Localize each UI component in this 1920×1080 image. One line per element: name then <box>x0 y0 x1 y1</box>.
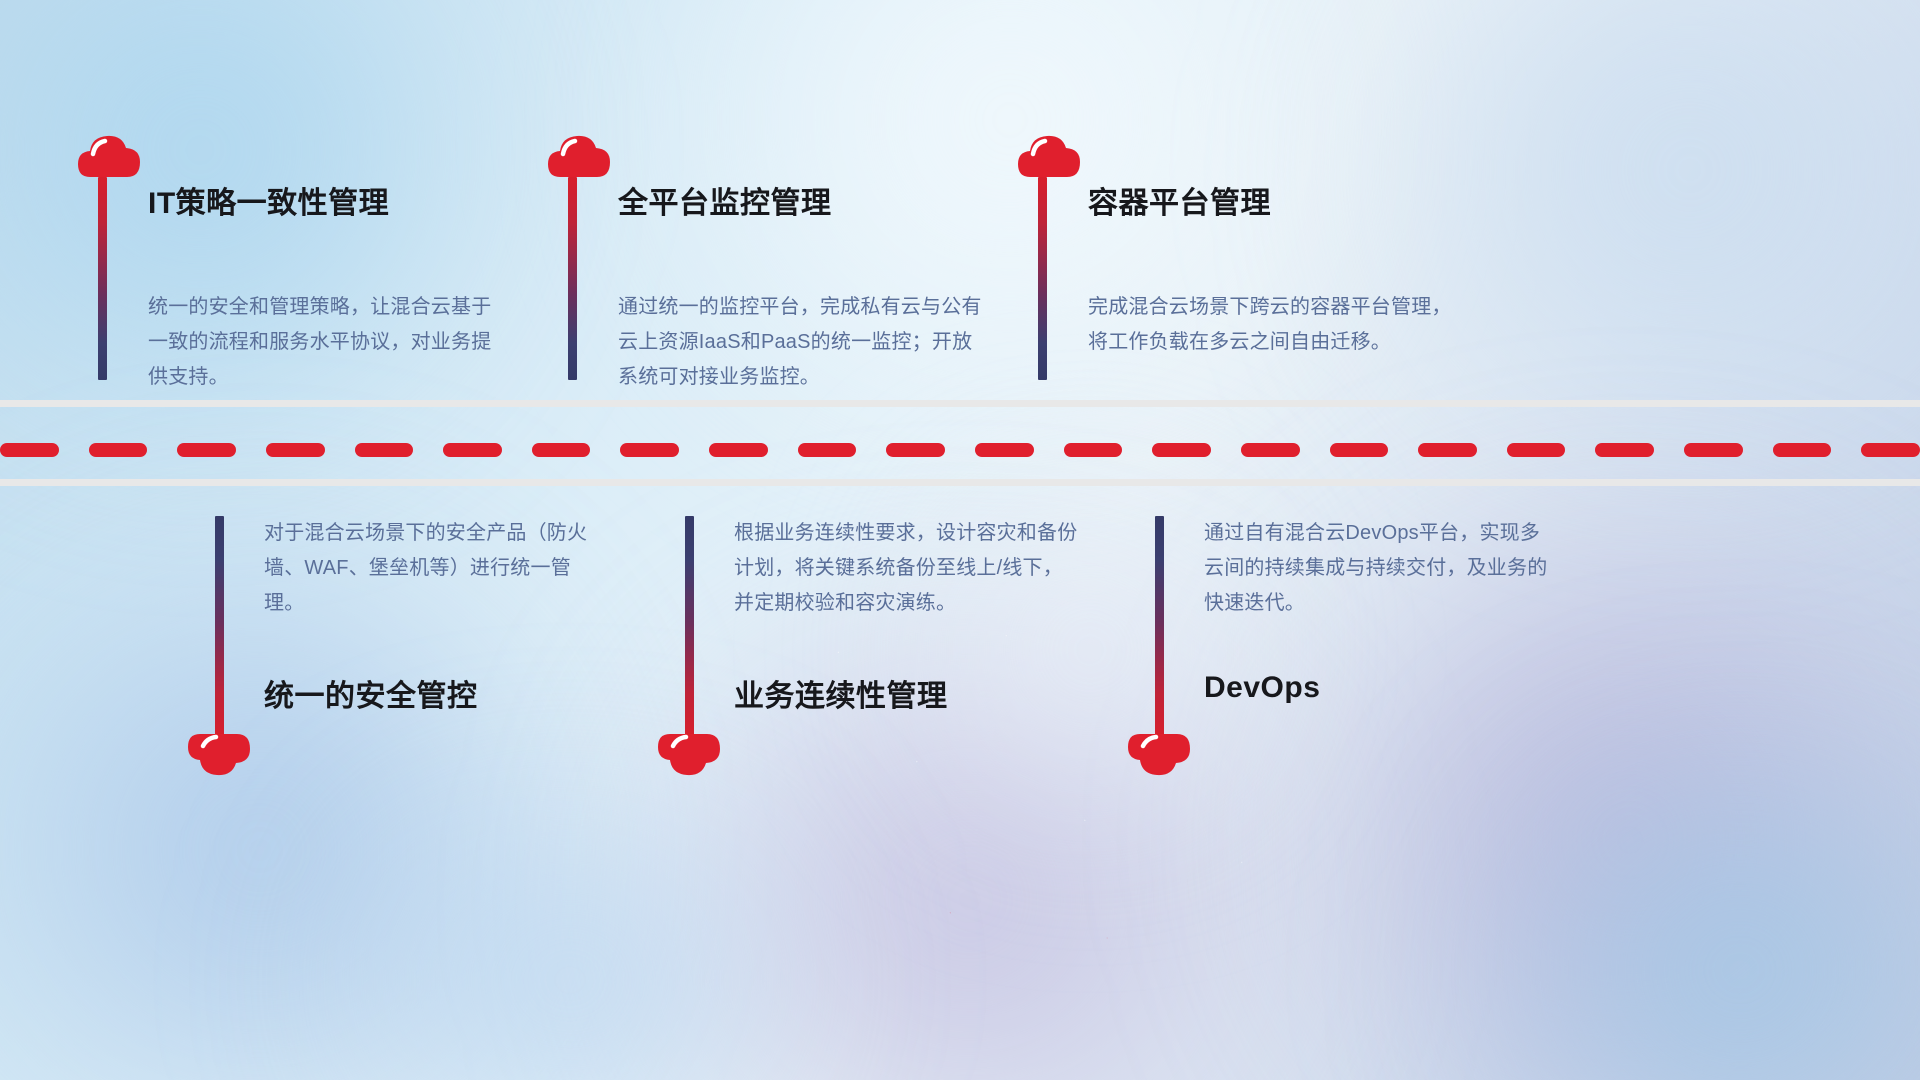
road-dash-segment <box>355 443 414 457</box>
road-dash-segment <box>975 443 1034 457</box>
cloud-icon <box>1018 133 1080 177</box>
card-heading: 全平台监控管理 <box>618 178 832 222</box>
infographic-canvas: IT策略一致性管理 统一的安全和管理策略，让混合云基于一致的流程和服务水平协议，… <box>0 0 1920 1080</box>
road-dash-segment <box>532 443 591 457</box>
road-rail-top <box>0 400 1920 407</box>
card-heading: IT策略一致性管理 <box>148 178 389 222</box>
road-dash-segment <box>620 443 679 457</box>
road-dash-segment <box>1773 443 1832 457</box>
cloud-icon <box>548 133 610 177</box>
road-dash-segment <box>1684 443 1743 457</box>
card-description: 根据业务连续性要求，设计容灾和备份计划，将关键系统备份至线上/线下，并定期校验和… <box>734 516 1079 621</box>
road-dash-segment <box>266 443 325 457</box>
card-heading: 容器平台管理 <box>1088 178 1271 222</box>
connector-line <box>98 177 107 380</box>
road-rail-bottom <box>0 479 1920 486</box>
road-dash-segment <box>1330 443 1389 457</box>
road-dash-segment <box>886 443 945 457</box>
card-description: 统一的安全和管理策略，让混合云基于一致的流程和服务水平协议，对业务提供支持。 <box>148 290 508 395</box>
card-description: 通过自有混合云DevOps平台，实现多云间的持续集成与持续交付，及业务的快速迭代… <box>1204 516 1549 621</box>
road-dash-segment <box>1595 443 1654 457</box>
card-heading: 业务连续性管理 <box>734 671 948 715</box>
card-heading: 统一的安全管控 <box>264 671 478 715</box>
road-dash-segment <box>1507 443 1566 457</box>
cloud-icon <box>78 133 140 177</box>
cloud-icon <box>658 734 720 778</box>
connector-line <box>685 516 694 738</box>
road-dash-segment <box>1241 443 1300 457</box>
card-description: 完成混合云场景下跨云的容器平台管理，将工作负载在多云之间自由迁移。 <box>1088 290 1453 360</box>
connector-line <box>215 516 224 738</box>
road-dash-segment <box>798 443 857 457</box>
road-dash-segment <box>709 443 768 457</box>
road-dash-segment <box>1418 443 1477 457</box>
connector-line <box>1155 516 1164 738</box>
cloud-icon <box>188 734 250 778</box>
road-dash-segment <box>0 443 59 457</box>
connector-line <box>1038 177 1047 380</box>
background-specks <box>760 560 1320 980</box>
card-description: 对于混合云场景下的安全产品（防火墙、WAF、堡垒机等）进行统一管理。 <box>264 516 609 621</box>
road-dash-segment <box>1152 443 1211 457</box>
road-dash-segment <box>177 443 236 457</box>
card-description: 通过统一的监控平台，完成私有云与公有云上资源IaaS和PaaS的统一监控；开放系… <box>618 290 983 395</box>
road-dashed-centerline <box>0 443 1920 457</box>
road-dash-segment <box>1861 443 1920 457</box>
road-dash-segment <box>89 443 148 457</box>
cloud-icon <box>1128 734 1190 778</box>
card-heading: DevOps <box>1204 671 1320 705</box>
road-dash-segment <box>1064 443 1123 457</box>
connector-line <box>568 177 577 380</box>
road-dash-segment <box>443 443 502 457</box>
